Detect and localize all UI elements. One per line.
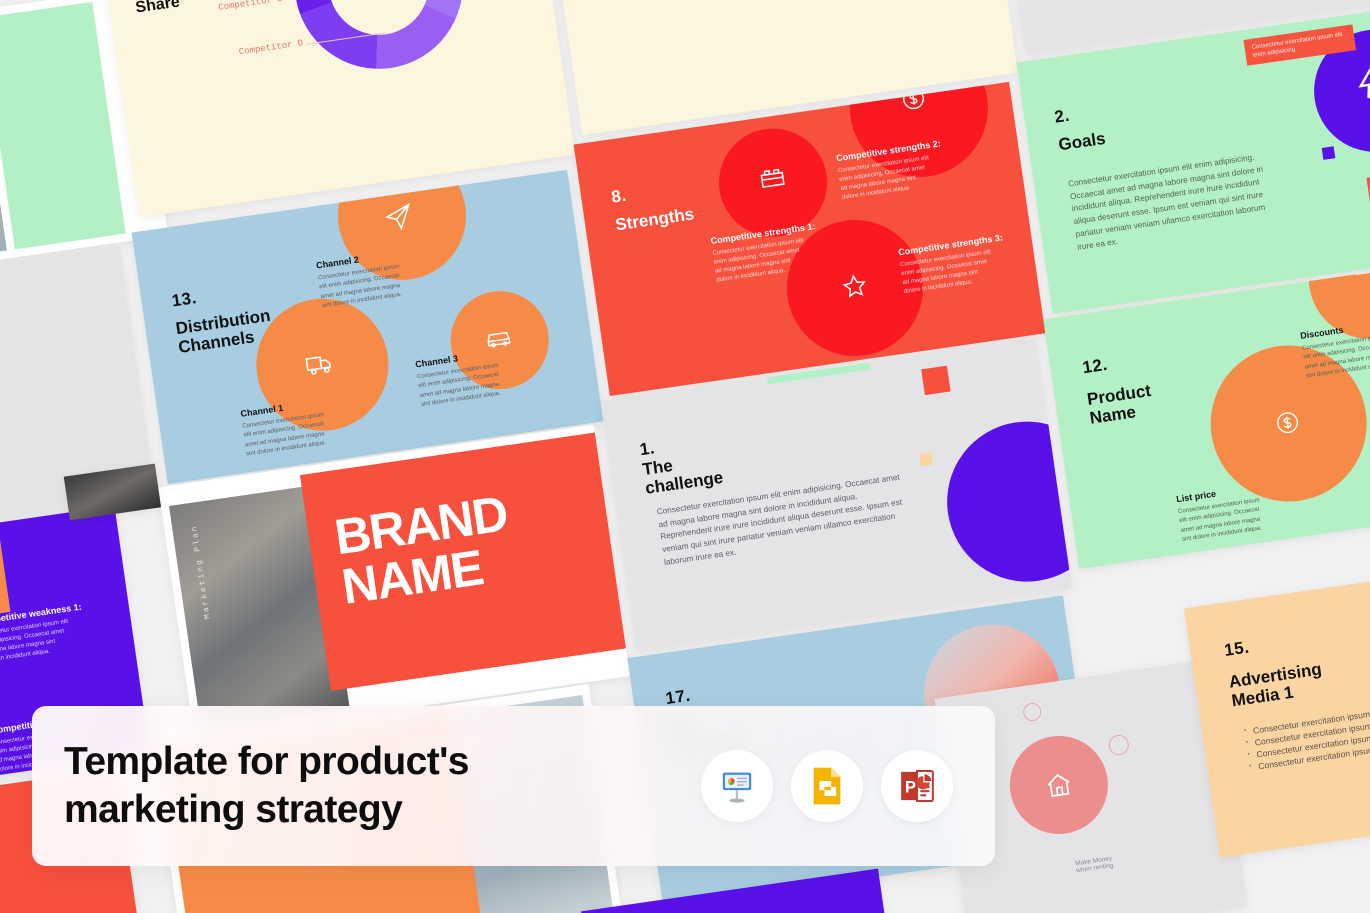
star-icon bbox=[839, 270, 871, 302]
channel-1-text: Consectetur exercitation ipsum elit enim… bbox=[242, 410, 334, 459]
distribution-number: 13. bbox=[170, 288, 198, 311]
list-price-label: List price bbox=[1176, 489, 1217, 505]
cta-panel: Template for product's marketing strateg… bbox=[32, 706, 995, 866]
goals-tag-2: Consectetur exercitation ipsum enim adip… bbox=[1366, 162, 1370, 204]
channel-3-text: Consectetur exercitation ipsum elit enim… bbox=[417, 361, 509, 410]
channel-2-label: Channel 2 bbox=[315, 255, 359, 271]
keynote-icon[interactable] bbox=[701, 750, 773, 822]
challenge-peach-dot bbox=[919, 453, 933, 467]
channel-1-label: Channel 1 bbox=[240, 403, 284, 419]
google-slides-icon[interactable] bbox=[791, 750, 863, 822]
app-format-icons: P bbox=[701, 750, 953, 822]
challenge-purple-quarter bbox=[937, 411, 1072, 592]
product-title: Product Name bbox=[1086, 381, 1155, 428]
weakness-1-block bbox=[0, 529, 10, 624]
cta-title: Template for product's marketing strateg… bbox=[64, 738, 469, 833]
goals-title: Goals bbox=[1057, 129, 1106, 155]
goals-purple-dot bbox=[1322, 146, 1336, 160]
map-note: Make Money when renting bbox=[1075, 855, 1114, 874]
map-ring-1 bbox=[1022, 702, 1042, 722]
lego-icon bbox=[757, 163, 789, 195]
car-icon bbox=[482, 322, 514, 354]
channel-3-label: Channel 3 bbox=[415, 353, 459, 369]
strength-2-text: Consectetur exercitation ipsum elit enim… bbox=[838, 154, 934, 203]
advertising-number: 15. bbox=[1223, 638, 1251, 661]
advertising-bullets: Consectetur exercitation ipsum elit Cons… bbox=[1244, 707, 1370, 775]
advertising-title: Advertising Media 1 bbox=[1228, 659, 1326, 710]
promo-screenshot: egy Market Share Competitor A Competitor… bbox=[0, 0, 1370, 913]
goals-number: 2. bbox=[1053, 106, 1071, 128]
paper-plane-icon bbox=[382, 200, 416, 234]
discounts-label: Discounts bbox=[1300, 325, 1344, 341]
truck-icon-dc bbox=[303, 347, 337, 381]
strengths-title: Strengths bbox=[614, 204, 695, 235]
strengths-number: 8. bbox=[610, 186, 628, 208]
powerpoint-icon[interactable]: P bbox=[881, 750, 953, 822]
market-share-title: Market Share bbox=[132, 0, 188, 17]
pie-label-competitor-b: Competitor B bbox=[218, 0, 284, 13]
coin-icon-product bbox=[1273, 408, 1302, 437]
map-ring-2 bbox=[1107, 734, 1130, 757]
challenge-number: 1. bbox=[638, 438, 656, 460]
channel-2-text: Consectetur exercitation ipsum elit enim… bbox=[317, 262, 409, 311]
product-number: 12. bbox=[1081, 355, 1109, 378]
discounts-text: Consectetur exercitation ipsum elit enim… bbox=[1302, 332, 1370, 381]
mint-accent-block bbox=[0, 2, 126, 250]
challenge-red-square bbox=[921, 366, 950, 395]
svg-text:P: P bbox=[905, 778, 916, 797]
goals-text: Consectetur exercitation ipsum elit enim… bbox=[1067, 149, 1286, 254]
list-price-text: Consectetur exercitation ipsum elit enim… bbox=[1178, 496, 1270, 545]
weakness-1-text: Consectetur exercitation ipsum elit enim… bbox=[0, 618, 73, 667]
home-icon bbox=[1042, 768, 1076, 802]
pie-label-competitor-d: Competitor D bbox=[238, 38, 304, 57]
